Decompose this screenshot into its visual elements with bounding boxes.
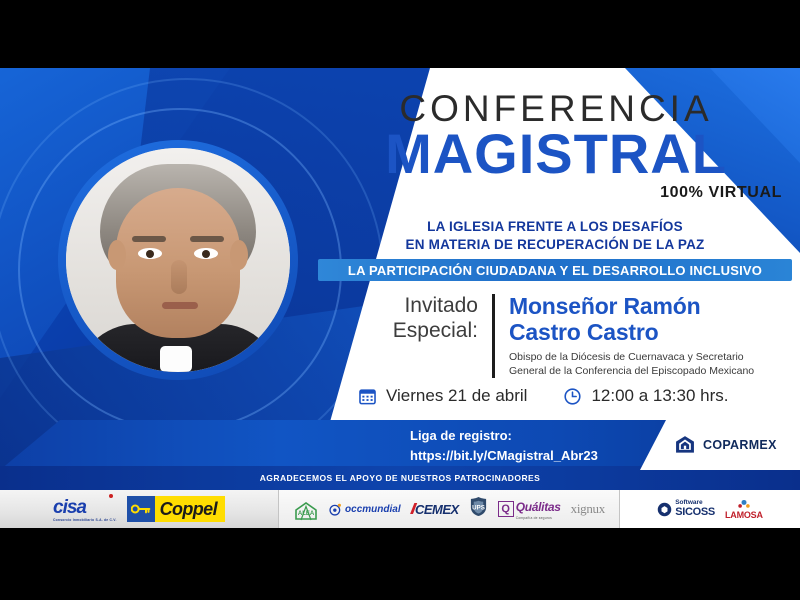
sicoss-wordmark: Software SICOSS: [675, 500, 715, 518]
sponsor-alea-name: ALEA: [298, 511, 314, 517]
sponsor-logo-occmundial: occmundial: [329, 503, 401, 516]
sponsor-logo-alea: ALEA: [293, 501, 319, 517]
sponsor-logo-sicoss: Software SICOSS: [657, 500, 715, 518]
subtitle-line-2: EN MATERIA DE RECUPERACIÓN DE LA PAZ: [320, 236, 790, 254]
guest-label: Invitado Especial:: [360, 294, 492, 344]
guest-name-line-1: Monseñor Ramón: [509, 294, 754, 320]
event-date-text: Viernes 21 de abril: [386, 386, 527, 406]
target-icon: [329, 503, 342, 516]
subtitle-block: LA IGLESIA FRENTE A LOS DESAFÍOS EN MATE…: [320, 218, 790, 254]
portrait-nose: [171, 260, 187, 294]
subtitle-line-1: LA IGLESIA FRENTE A LOS DESAFÍOS: [320, 218, 790, 236]
sponsor-coppel-name: Coppel: [155, 496, 225, 522]
sponsor-group-primary: cisa Consorcio Inmobiliario S.A. de C.V.…: [0, 490, 278, 528]
portrait-photo: [66, 148, 290, 372]
event-meta: Viernes 21 de abril 12:00 a 13:30 hrs.: [358, 386, 788, 406]
sponsor-logo-xignux: xignux: [571, 501, 605, 517]
portrait-mouth: [162, 302, 198, 309]
qualitas-q-icon: Q: [498, 501, 514, 517]
cisa-dot-icon: [109, 494, 113, 498]
guest-block: Invitado Especial: Monseñor Ramón Castro…: [360, 294, 790, 378]
guest-label-line-1: Invitado: [360, 294, 478, 319]
sponsor-logo-cisa: cisa Consorcio Inmobiliario S.A. de C.V.: [53, 497, 117, 522]
sponsor-strip: cisa Consorcio Inmobiliario S.A. de C.V.…: [0, 490, 800, 528]
video-frame: CONFERENCIA MAGISTRAL 100% VIRTUAL LA IG…: [0, 0, 800, 600]
sponsor-logo-qualitas: Q Quálitas Compañía de seguros: [498, 498, 561, 520]
highlight-band-text: LA PARTICIPACIÓN CIUDADANA Y EL DESARROL…: [348, 263, 762, 278]
highlight-band: LA PARTICIPACIÓN CIUDADANA Y EL DESARROL…: [318, 259, 792, 281]
hexagon-icon: [657, 502, 672, 517]
key-icon-glyph: [131, 503, 151, 515]
sponsor-lamosa-name: LAMOSA: [725, 510, 763, 520]
sponsor-qualitas-block: Quálitas Compañía de seguros: [516, 498, 561, 520]
portrait-ear-left: [108, 240, 126, 270]
event-time-text: 12:00 a 13:30 hrs.: [591, 386, 728, 406]
portrait-brow-right: [190, 236, 224, 242]
guest-role-line-1: Obispo de la Diócesis de Cuernavaca y Se…: [509, 350, 754, 364]
shield-icon: UPS: [469, 496, 488, 517]
svg-text:UPS: UPS: [472, 504, 485, 511]
portrait-ear-right: [230, 240, 248, 270]
sponsor-logo-lamosa: LAMOSA: [725, 498, 763, 520]
sponsor-cisa-tagline: Consorcio Inmobiliario S.A. de C.V.: [53, 518, 117, 522]
sponsor-logo-ups: UPS: [469, 496, 488, 522]
coparmex-wordmark: COPARMEX: [703, 438, 777, 452]
event-date-item: Viernes 21 de abril: [358, 386, 527, 406]
letterbox-top: [0, 0, 800, 68]
coparmex-logo-icon: [674, 434, 696, 456]
calendar-icon: [358, 387, 377, 406]
event-time-item: 12:00 a 13:30 hrs.: [563, 386, 728, 406]
lamosa-mark-icon: [737, 498, 751, 510]
portrait-pupil-right: [202, 250, 210, 258]
coparmex-brand-wedge: COPARMEX: [640, 420, 800, 470]
sponsor-xignux-name: xignux: [571, 501, 605, 516]
sponsor-cisa-name: cisa: [53, 497, 86, 518]
sponsor-qualitas-name: Quálitas: [516, 500, 561, 514]
sponsor-logo-coppel: Coppel: [127, 496, 225, 522]
sponsor-group-secondary: ALEA occmundial // CEMEX: [278, 490, 620, 528]
portrait-brow-left: [132, 236, 166, 242]
portrait-pupil-left: [146, 250, 154, 258]
sponsor-qualitas-tagline: Compañía de seguros: [516, 516, 561, 520]
guest-role: Obispo de la Diócesis de Cuernavaca y Se…: [509, 350, 754, 378]
sponsor-sicoss-name2: SICOSS: [675, 507, 715, 518]
registration-url[interactable]: https://bit.ly/CMagistral_Abr23: [410, 446, 598, 466]
conference-flyer: CONFERENCIA MAGISTRAL 100% VIRTUAL LA IG…: [0, 68, 800, 528]
cemex-slash-icon: //: [411, 501, 413, 518]
guest-role-line-2: General de la Conferencia del Episcopado…: [509, 364, 754, 378]
guest-name-line-2: Castro Castro: [509, 320, 754, 346]
virtual-badge: 100% VIRTUAL: [330, 184, 798, 202]
registration-label: Liga de registro:: [410, 426, 598, 446]
sponsor-cemex-name: CEMEX: [415, 502, 459, 517]
clock-icon: [563, 387, 582, 406]
portrait-roman-collar: [160, 346, 192, 372]
registration-text: Liga de registro: https://bit.ly/CMagist…: [410, 426, 598, 465]
key-icon: [127, 496, 155, 522]
sponsor-group-tertiary: Software SICOSS LAMOSA: [620, 490, 800, 528]
sponsor-logo-cemex: // CEMEX: [411, 501, 459, 518]
guest-info: Monseñor Ramón Castro Castro Obispo de l…: [495, 294, 754, 378]
letterbox-bottom: [0, 528, 800, 600]
sponsors-thanks-text: AGRADECEMOS EL APOYO DE NUESTROS PATROCI…: [260, 473, 541, 483]
speaker-portrait: [58, 140, 298, 380]
headline-main: MAGISTRAL: [330, 126, 782, 182]
sponsor-occ-name: occmundial: [345, 504, 401, 515]
guest-label-line-2: Especial:: [360, 319, 478, 344]
